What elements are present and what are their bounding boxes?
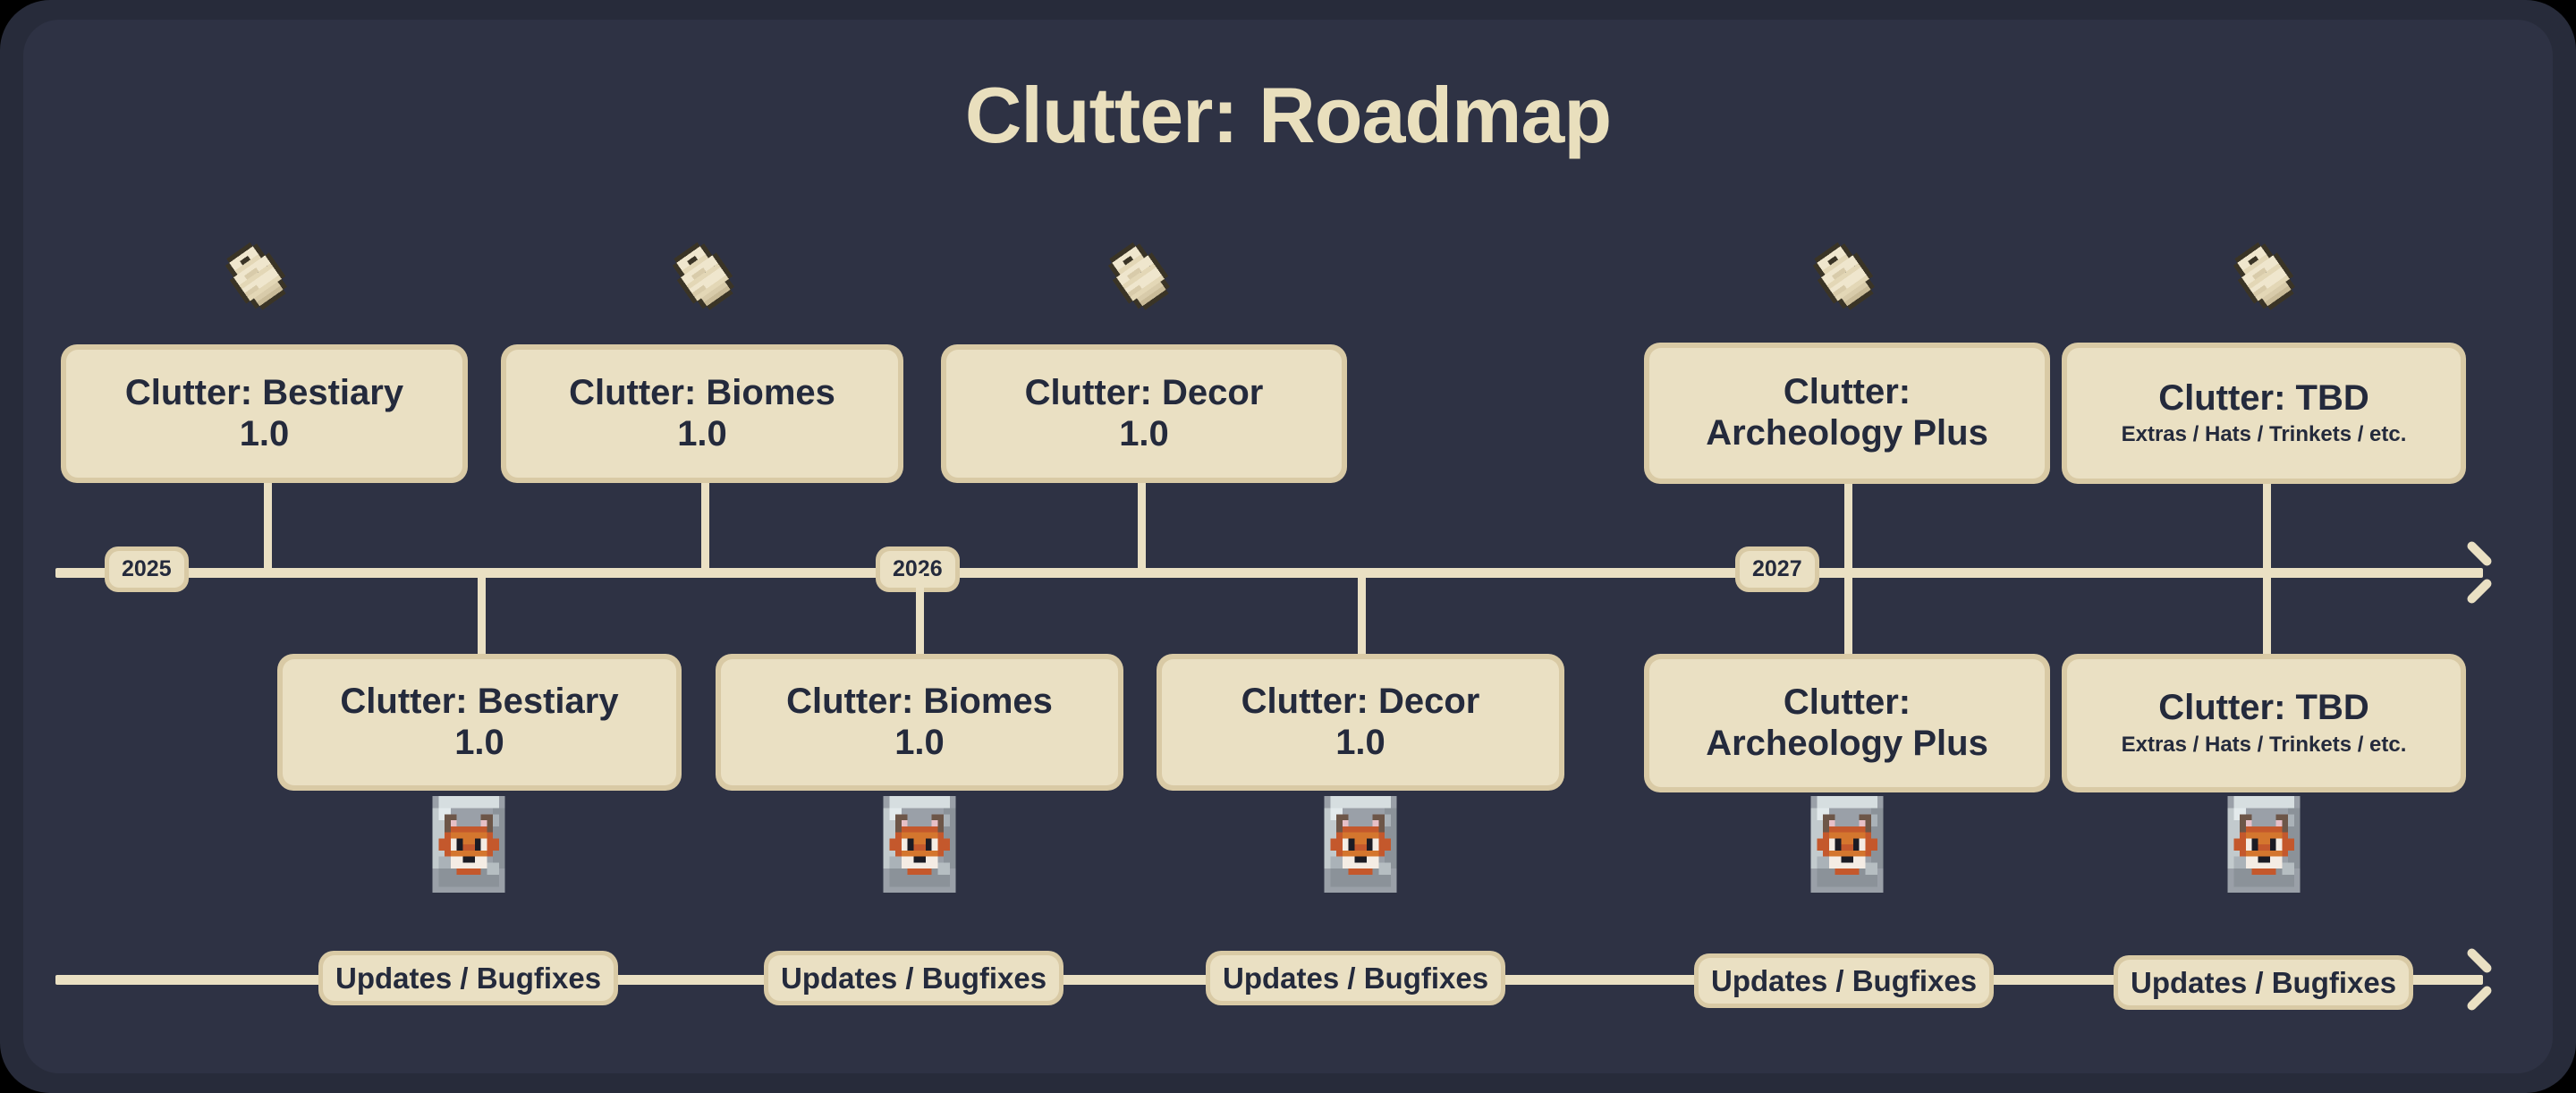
release-card-title: Clutter: Bestiary 1.0 xyxy=(125,373,403,454)
updates-badge-label: Updates / Bugfixes xyxy=(323,955,614,1001)
scroll-icon xyxy=(1807,240,1884,317)
updates-badge-label: Updates / Bugfixes xyxy=(2118,960,2409,1005)
support-axis-arrow-icon xyxy=(2458,959,2499,1000)
release-card-body: Clutter: Biomes 1.0 xyxy=(506,350,898,478)
updates-badge[interactable]: Updates / Bugfixes xyxy=(1694,953,1994,1008)
release-card-top[interactable]: Clutter: TBD Extras / Hats / Trinkets / … xyxy=(2062,343,2466,484)
release-card-title: Clutter: Decor 1.0 xyxy=(1241,682,1480,763)
connector-stem xyxy=(2263,483,2271,572)
fox-spawn-egg-icon xyxy=(2216,796,2312,893)
connector-stem xyxy=(701,483,709,572)
fox-spawn-egg-icon xyxy=(1799,796,1895,893)
updates-badge[interactable]: Updates / Bugfixes xyxy=(2114,955,2413,1010)
release-card-body: Clutter: TBD Extras / Hats / Trinkets / … xyxy=(2067,348,2461,479)
release-card-top[interactable]: Clutter: Decor 1.0 xyxy=(941,344,1347,483)
connector-stem xyxy=(264,483,272,572)
connector-stem xyxy=(916,573,924,663)
timeline-axis-arrow-icon xyxy=(2458,552,2499,593)
fox-spawn-egg-icon xyxy=(1312,796,1409,893)
scroll-icon xyxy=(2227,240,2304,317)
release-card-bottom[interactable]: Clutter: Biomes 1.0 xyxy=(716,654,1123,791)
roadmap-canvas: Clutter: Roadmap xyxy=(0,0,2576,1093)
updates-badge-label: Updates / Bugfixes xyxy=(768,955,1059,1001)
inner-panel xyxy=(23,20,2553,1073)
release-card-body: Clutter: Bestiary 1.0 xyxy=(283,659,676,785)
release-card-body: Clutter: Archeology Plus xyxy=(1649,659,2045,787)
connector-stem xyxy=(1138,483,1146,572)
release-card-body: Clutter: Archeology Plus xyxy=(1649,348,2045,479)
connector-stem xyxy=(1358,573,1366,663)
scroll-icon xyxy=(219,240,296,317)
year-badge-2027[interactable]: 2027 xyxy=(1735,546,1819,592)
year-badge-label: 2027 xyxy=(1740,551,1815,588)
fox-spawn-egg-icon xyxy=(420,796,517,893)
release-card-bottom[interactable]: Clutter: Archeology Plus xyxy=(1644,654,2050,792)
connector-stem xyxy=(478,573,486,663)
timeline-axis xyxy=(55,568,2483,578)
release-card-title: Clutter: Bestiary 1.0 xyxy=(340,682,618,763)
release-card-top[interactable]: Clutter: Biomes 1.0 xyxy=(501,344,903,483)
connector-stem xyxy=(2263,573,2271,663)
scroll-icon xyxy=(1102,240,1179,317)
connector-stem xyxy=(1844,483,1852,572)
release-card-title: Clutter: Biomes 1.0 xyxy=(569,373,835,454)
year-badge-label: 2025 xyxy=(109,551,184,588)
release-card-bottom[interactable]: Clutter: Bestiary 1.0 xyxy=(277,654,682,791)
updates-badge-label: Updates / Bugfixes xyxy=(1699,958,1989,1004)
release-card-bottom[interactable]: Clutter: Decor 1.0 xyxy=(1157,654,1564,791)
release-card-subtitle: Extras / Hats / Trinkets / etc. xyxy=(2122,733,2407,758)
release-card-title: Clutter: Biomes 1.0 xyxy=(786,682,1053,763)
release-card-bottom[interactable]: Clutter: TBD Extras / Hats / Trinkets / … xyxy=(2062,654,2466,792)
release-card-title: Clutter: Archeology Plus xyxy=(1706,682,1988,764)
connector-stem xyxy=(1844,573,1852,663)
page-title: Clutter: Roadmap xyxy=(0,70,2576,161)
updates-badge[interactable]: Updates / Bugfixes xyxy=(318,951,618,1005)
updates-badge[interactable]: Updates / Bugfixes xyxy=(1206,951,1505,1005)
updates-badge[interactable]: Updates / Bugfixes xyxy=(764,951,1063,1005)
release-card-body: Clutter: TBD Extras / Hats / Trinkets / … xyxy=(2067,659,2461,787)
release-card-subtitle: Extras / Hats / Trinkets / etc. xyxy=(2122,422,2407,448)
release-card-title: Clutter: TBD xyxy=(2158,688,2369,729)
release-card-body: Clutter: Biomes 1.0 xyxy=(721,659,1118,785)
release-card-body: Clutter: Decor 1.0 xyxy=(1162,659,1559,785)
release-card-body: Clutter: Decor 1.0 xyxy=(946,350,1342,478)
release-card-title: Clutter: TBD xyxy=(2158,378,2369,419)
release-card-top[interactable]: Clutter: Bestiary 1.0 xyxy=(61,344,468,483)
release-card-title: Clutter: Decor 1.0 xyxy=(1025,373,1264,454)
year-badge-2025[interactable]: 2025 xyxy=(105,546,189,592)
release-card-title: Clutter: Archeology Plus xyxy=(1706,372,1988,453)
fox-spawn-egg-icon xyxy=(871,796,968,893)
release-card-top[interactable]: Clutter: Archeology Plus xyxy=(1644,343,2050,484)
updates-badge-label: Updates / Bugfixes xyxy=(1210,955,1501,1001)
release-card-body: Clutter: Bestiary 1.0 xyxy=(66,350,462,478)
scroll-icon xyxy=(666,240,743,317)
